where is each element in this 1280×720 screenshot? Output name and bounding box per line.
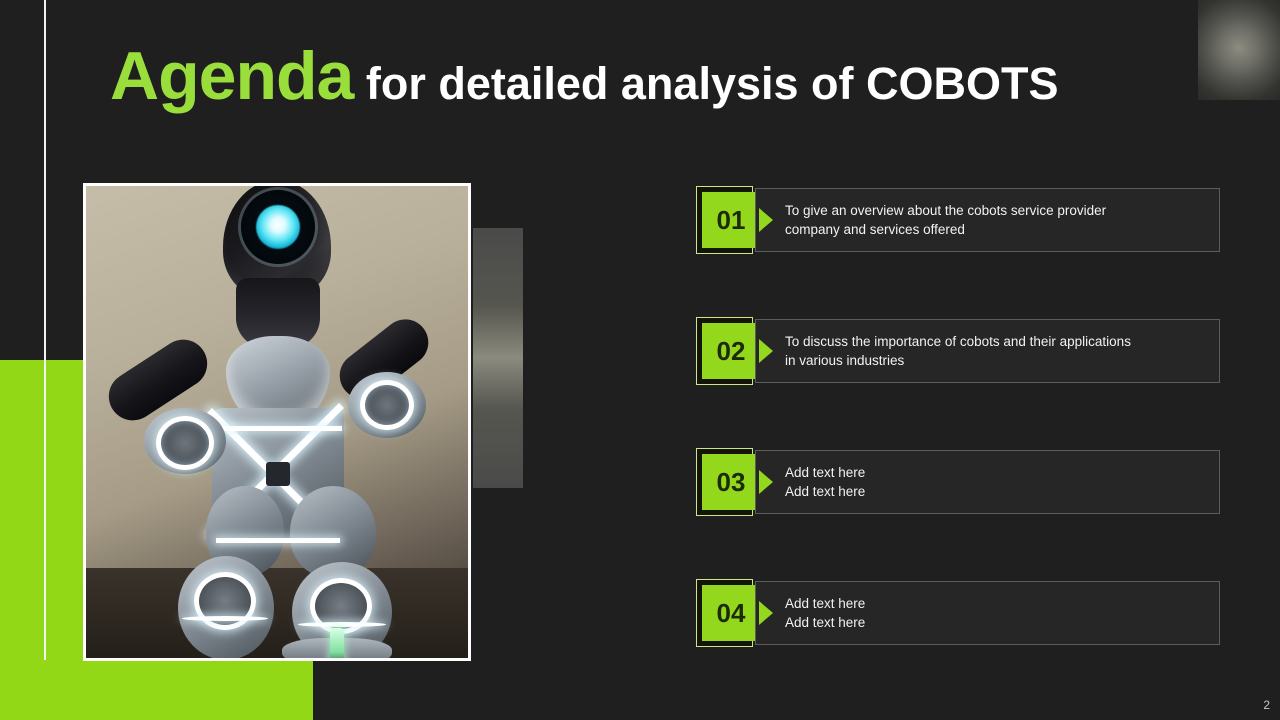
- robot-left-joint-ring: [156, 416, 214, 470]
- agenda-number-badge: 01: [702, 192, 760, 248]
- agenda-text: To discuss the importance of cobots and …: [785, 332, 1131, 370]
- agenda-number-badge: 04: [702, 585, 760, 641]
- robot-right-foot-glow: [298, 622, 386, 627]
- arrow-right-icon: [759, 601, 773, 625]
- robot-glow-band-lower: [216, 538, 340, 543]
- agenda-item-04[interactable]: 04 Add text here Add text here: [696, 579, 1220, 647]
- page-number: 2: [1263, 698, 1270, 712]
- agenda-text: Add text here Add text here: [785, 594, 865, 632]
- agenda-item-02[interactable]: 02 To discuss the importance of cobots a…: [696, 317, 1220, 385]
- robot-left-leg-ring: [194, 572, 256, 630]
- agenda-item-01[interactable]: 01 To give an overview about the cobots …: [696, 186, 1220, 254]
- agenda-number-label: 02: [717, 338, 746, 364]
- arrow-right-icon: [759, 208, 773, 232]
- arrow-right-icon: [759, 339, 773, 363]
- agenda-text-box[interactable]: To give an overview about the cobots ser…: [755, 188, 1220, 252]
- agenda-item-03[interactable]: 03 Add text here Add text here: [696, 448, 1220, 516]
- agenda-text: Add text here Add text here: [785, 463, 865, 501]
- slide-canvas: Agenda for detailed analysis of COBOTS: [0, 0, 1280, 720]
- agenda-number-badge: 02: [702, 323, 760, 379]
- photo-background-floor: [86, 568, 468, 658]
- agenda-number-label: 04: [717, 600, 746, 626]
- cobot-robot-photo: [83, 183, 471, 661]
- page-title: Agenda for detailed analysis of COBOTS: [110, 42, 1059, 110]
- photo-inner: [86, 186, 468, 658]
- blurred-orb-decoration: [1198, 0, 1280, 100]
- grey-gradient-rectangle: [473, 228, 523, 488]
- robot-stand-light: [330, 628, 344, 658]
- robot-right-joint-ring: [360, 380, 414, 430]
- robot-torso-hub: [266, 462, 290, 486]
- agenda-number-badge: 03: [702, 454, 760, 510]
- agenda-list: 01 To give an overview about the cobots …: [696, 186, 1220, 647]
- title-accent-word: Agenda: [110, 38, 353, 114]
- title-rest: for detailed analysis of COBOTS: [353, 58, 1058, 109]
- agenda-text-box[interactable]: Add text here Add text here: [755, 581, 1220, 645]
- agenda-number-label: 03: [717, 469, 746, 495]
- robot-eye-glow: [256, 205, 300, 249]
- agenda-text: To give an overview about the cobots ser…: [785, 201, 1106, 239]
- arrow-right-icon: [759, 470, 773, 494]
- agenda-text-box[interactable]: To discuss the importance of cobots and …: [755, 319, 1220, 383]
- agenda-text-box[interactable]: Add text here Add text here: [755, 450, 1220, 514]
- agenda-number-label: 01: [717, 207, 746, 233]
- robot-glow-band-upper: [214, 426, 342, 431]
- left-white-rule: [44, 0, 46, 660]
- robot-left-foot-glow: [182, 616, 268, 621]
